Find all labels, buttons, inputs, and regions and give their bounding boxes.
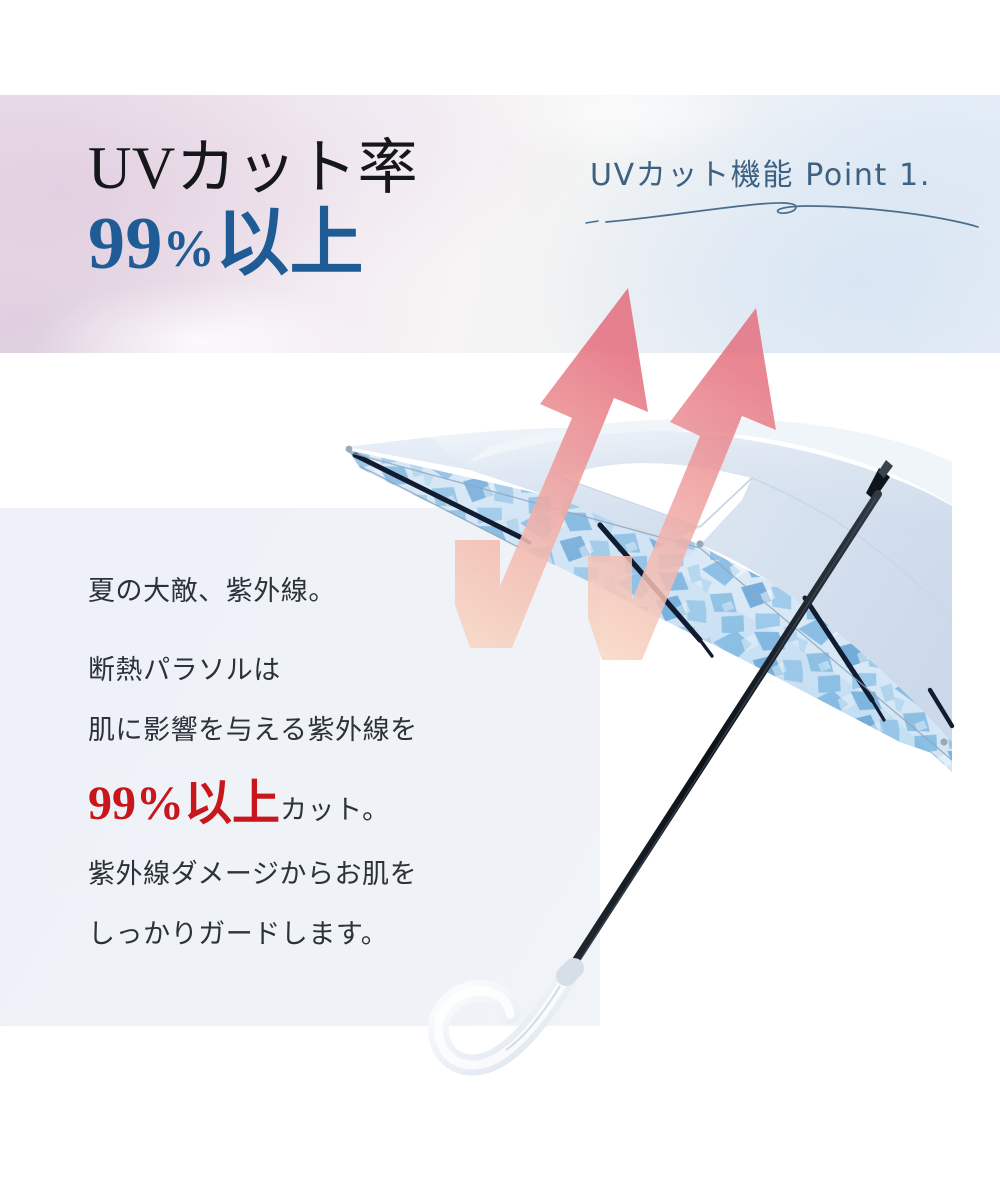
copy-line-1: 夏の大敵、紫外線。: [88, 578, 518, 605]
cut-word: カット。: [280, 795, 390, 825]
headline-line-1: UVカット率: [88, 138, 418, 199]
copy-line-5: 紫外線ダメージからお肌を: [88, 861, 518, 888]
body-copy: 夏の大敵、紫外線。 断熱パラソルは 肌に影響を与える紫外線を 99%以上カット。…: [88, 578, 518, 948]
copy-line-2: 断熱パラソルは: [88, 657, 518, 684]
headline-value: 99: [88, 203, 163, 285]
copy-cut-line: 99%以上カット。: [88, 780, 518, 828]
product-feature-page: UVカット率 99%以上 UVカット機能 Point 1.: [0, 0, 1000, 1200]
cut-value: 99: [88, 777, 136, 830]
hero-headline: UVカット率 99%以上: [88, 138, 418, 281]
headline-line-2: 99%以上: [88, 207, 418, 281]
umbrella-hook-handle: [438, 968, 574, 1065]
headline-percent-sign: %: [163, 221, 215, 278]
copy-line-3: 肌に影響を与える紫外線を: [88, 717, 518, 744]
hand-drawn-underline-swoosh-icon: [582, 188, 982, 234]
cut-suffix: 以上: [184, 777, 280, 830]
cut-percent-sign: %: [136, 777, 184, 830]
headline-suffix: 以上: [215, 203, 364, 285]
copy-line-6: しっかりガードします。: [88, 921, 518, 948]
